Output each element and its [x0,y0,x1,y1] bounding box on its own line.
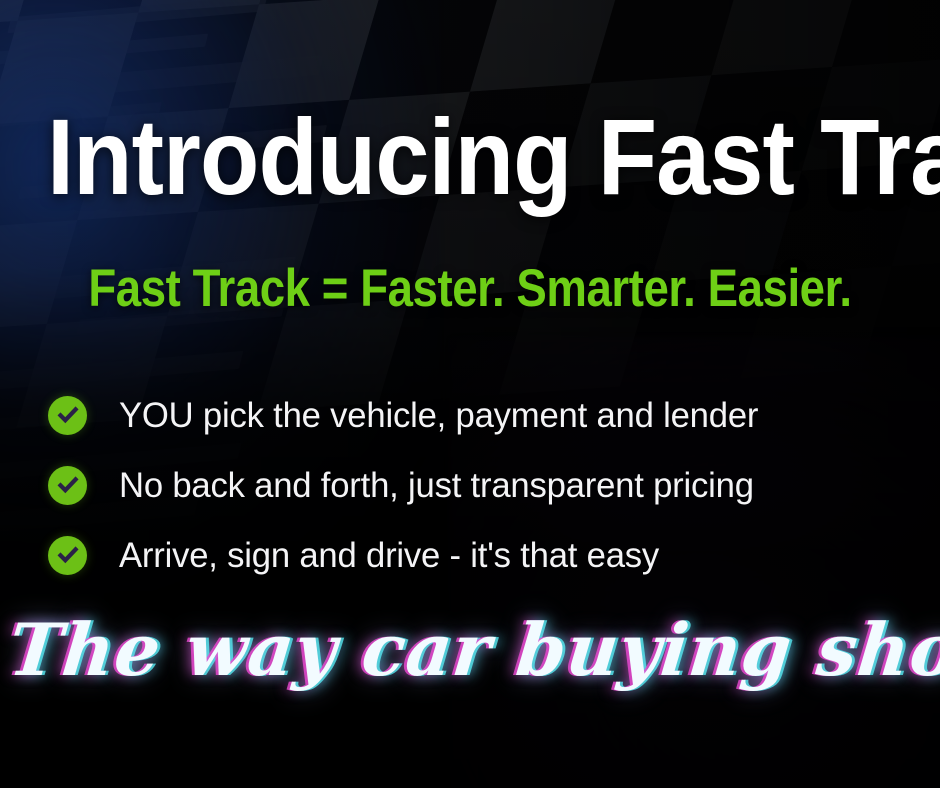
list-item-label: No back and forth, just transparent pric… [119,468,754,503]
check-circle-icon [48,466,87,505]
list-item: Arrive, sign and drive - it's that easy [48,520,908,590]
check-circle-icon [48,396,87,435]
list-item: YOU pick the vehicle, payment and lender [48,380,908,450]
headline: Introducing Fast Track [47,103,893,211]
benefits-list: YOU pick the vehicle, payment and lender… [48,380,908,590]
list-item-label: Arrive, sign and drive - it's that easy [119,538,659,573]
tagline: The way car buying should be. [5,612,934,688]
subheadline: Fast Track = Faster. Smarter. Easier. [66,262,874,315]
check-circle-icon [48,536,87,575]
list-item-label: YOU pick the vehicle, payment and lender [119,398,758,433]
list-item: No back and forth, just transparent pric… [48,450,908,520]
promo-poster: Introducing Fast Track Fast Track = Fast… [0,0,940,788]
poster-content: Introducing Fast Track Fast Track = Fast… [0,0,940,788]
